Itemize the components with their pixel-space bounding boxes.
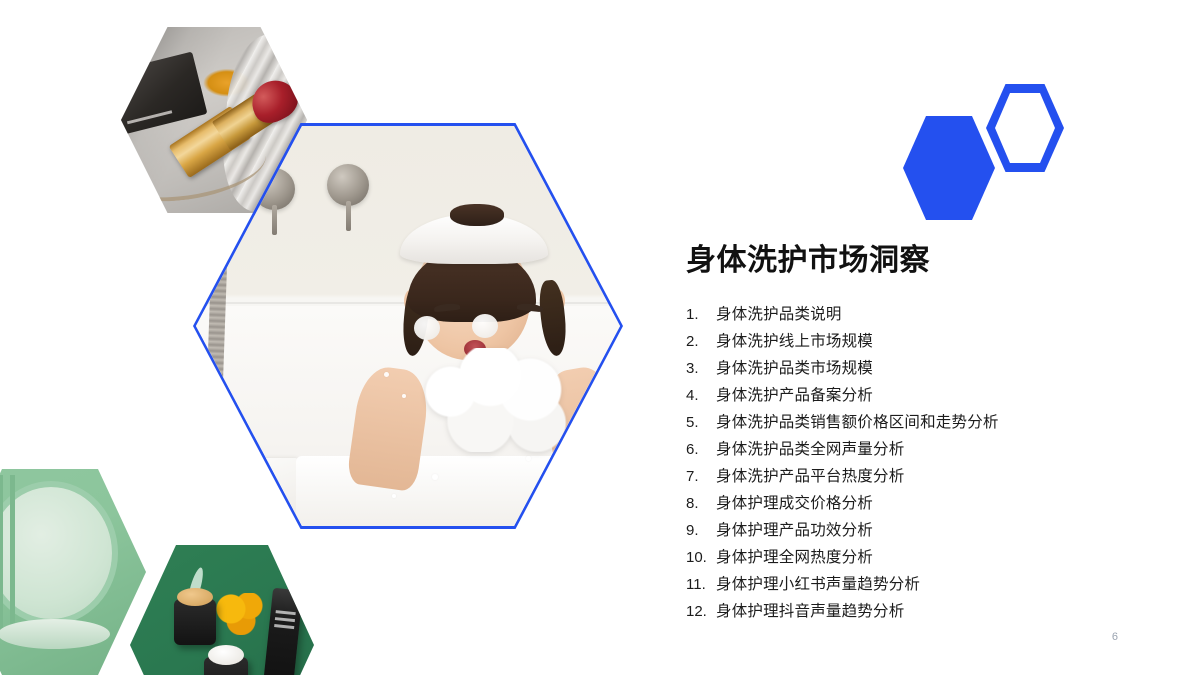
- list-item-label: 身体护理全网热度分析: [716, 550, 873, 566]
- page-title: 身体洗护市场洞察: [686, 244, 1156, 277]
- list-item-number: 11.: [686, 577, 716, 592]
- agenda-list: 1. 身体洗护品类说明 2. 身体洗护线上市场规模 3. 身体洗护品类市场规模 …: [686, 307, 1156, 620]
- list-item-number: 3.: [686, 361, 716, 376]
- bathroom-scene: [196, 126, 620, 526]
- list-item[interactable]: 5. 身体洗护品类销售额价格区间和走势分析: [686, 415, 1156, 431]
- green-podium: [0, 619, 110, 649]
- headband-bow: [450, 204, 504, 226]
- list-item[interactable]: 1. 身体洗护品类说明: [686, 307, 1156, 323]
- list-item[interactable]: 6. 身体洗护品类全网声量分析: [686, 442, 1156, 458]
- list-item-label: 身体护理产品功效分析: [716, 523, 873, 539]
- green-vertical-bar: [0, 475, 3, 635]
- list-item[interactable]: 8. 身体护理成交价格分析: [686, 496, 1156, 512]
- list-item-label: 身体洗护品类市场规模: [716, 361, 873, 377]
- list-item-label: 身体洗护品类全网声量分析: [716, 442, 904, 458]
- green-mirror-display-photo: [0, 469, 146, 675]
- list-item-label: 身体护理成交价格分析: [716, 496, 873, 512]
- list-item-number: 7.: [686, 469, 716, 484]
- list-item-number: 9.: [686, 523, 716, 538]
- list-item-number: 8.: [686, 496, 716, 511]
- list-item[interactable]: 11. 身体护理小红书声量趋势分析: [686, 577, 1156, 593]
- list-item-number: 6.: [686, 442, 716, 457]
- list-item-label: 身体洗护线上市场规模: [716, 334, 873, 350]
- foam-in-hands: [414, 348, 580, 452]
- list-item[interactable]: 3. 身体洗护品类市场规模: [686, 361, 1156, 377]
- foam-on-cheek-left: [414, 316, 440, 340]
- outline-hexagon-inner: [995, 93, 1055, 163]
- flatlay-surface: [130, 545, 314, 675]
- tap-fixture-right: [327, 164, 369, 206]
- content-block: 身体洗护市场洞察 1. 身体洗护品类说明 2. 身体洗护线上市场规模 3. 身体…: [686, 244, 1156, 631]
- filled-hexagon: [903, 116, 995, 220]
- page-number: 6: [1112, 631, 1118, 643]
- black-cream-jar-top: [174, 599, 216, 645]
- green-skincare-flatlay-photo: [130, 545, 314, 675]
- foam-on-cheek-right: [472, 314, 498, 338]
- list-item-number: 10.: [686, 550, 716, 565]
- green-display-surface: [0, 469, 146, 675]
- list-item-label: 身体洗护产品备案分析: [716, 388, 873, 404]
- slide: 身体洗护市场洞察 1. 身体洗护品类说明 2. 身体洗护线上市场规模 3. 身体…: [0, 0, 1200, 675]
- folded-towel: [220, 458, 298, 524]
- bubble-droplet: [402, 394, 406, 398]
- list-item-number: 12.: [686, 604, 716, 619]
- green-vertical-bar: [10, 475, 15, 635]
- list-item[interactable]: 9. 身体护理产品功效分析: [686, 523, 1156, 539]
- list-item[interactable]: 2. 身体洗护线上市场规模: [686, 334, 1156, 350]
- list-item-number: 2.: [686, 334, 716, 349]
- bubble-droplet: [432, 474, 438, 480]
- bubble-droplet: [384, 372, 389, 377]
- black-cream-jar-bottom: [204, 657, 248, 675]
- list-item-label: 身体洗护品类说明: [716, 307, 842, 323]
- list-item-label: 身体洗护产品平台热度分析: [716, 469, 904, 485]
- yellow-flower: [216, 593, 266, 635]
- black-face-wash-tube: [263, 588, 303, 675]
- outline-hexagon: [986, 84, 1064, 172]
- child-bath-bubbles-photo: [193, 123, 623, 529]
- list-item-number: 1.: [686, 307, 716, 322]
- bathtub-front-panel: [296, 456, 620, 526]
- list-item-label: 身体洗护品类销售额价格区间和走势分析: [716, 415, 999, 431]
- bubble-droplet: [392, 494, 396, 498]
- child-hair-right: [537, 279, 569, 357]
- list-item[interactable]: 12. 身体护理抖音声量趋势分析: [686, 604, 1156, 620]
- list-item-label: 身体护理小红书声量趋势分析: [716, 577, 920, 593]
- list-item-label: 身体护理抖音声量趋势分析: [716, 604, 904, 620]
- list-item[interactable]: 10. 身体护理全网热度分析: [686, 550, 1156, 566]
- main-hexagon-photo-surface: [196, 126, 620, 526]
- list-item[interactable]: 4. 身体洗护产品备案分析: [686, 388, 1156, 404]
- list-item-number: 4.: [686, 388, 716, 403]
- list-item-number: 5.: [686, 415, 716, 430]
- bubble-droplet: [526, 456, 531, 461]
- list-item[interactable]: 7. 身体洗护产品平台热度分析: [686, 469, 1156, 485]
- green-mirror-disc: [0, 487, 112, 619]
